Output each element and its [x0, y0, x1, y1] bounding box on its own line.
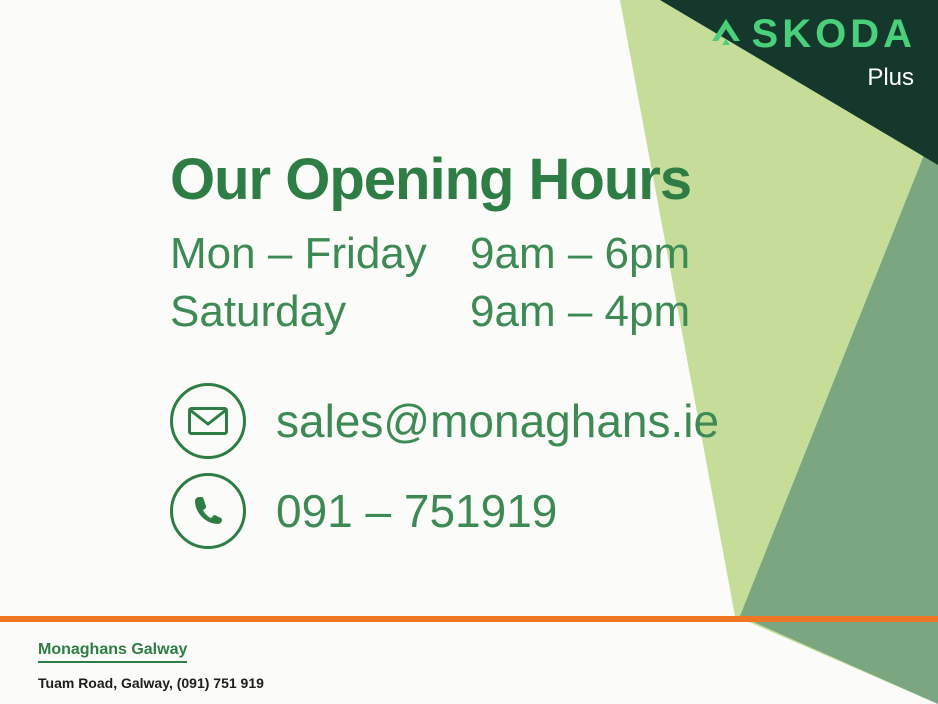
- hours-day-saturday: Saturday: [170, 287, 470, 337]
- plus-label: Plus: [708, 62, 914, 93]
- contact-block: sales@monaghans.ie 091 – 751919: [170, 383, 719, 549]
- hours-time-saturday: 9am – 4pm: [470, 287, 690, 337]
- content-block: Our Opening Hours Mon – Friday 9am – 6pm…: [170, 150, 719, 563]
- email-address[interactable]: sales@monaghans.ie: [276, 394, 719, 448]
- orange-divider: [0, 616, 938, 622]
- skoda-wordmark-text: SKODA: [752, 12, 916, 56]
- phone-icon: [170, 473, 246, 549]
- hours-row-saturday: Saturday 9am – 4pm: [170, 287, 719, 337]
- page-title: Our Opening Hours: [170, 150, 719, 211]
- dealer-name: Monaghans Galway: [38, 640, 187, 663]
- footer: Monaghans Galway Tuam Road, Galway, (091…: [38, 640, 264, 691]
- opening-hours-poster: SKODA Plus Our Opening Hours Mon – Frida…: [0, 0, 938, 704]
- phone-number[interactable]: 091 – 751919: [276, 484, 557, 538]
- skoda-wordmark: SKODA: [708, 14, 916, 58]
- contact-row-phone[interactable]: 091 – 751919: [170, 473, 719, 549]
- hours-day-weekday: Mon – Friday: [170, 229, 470, 279]
- skoda-plus-logo: SKODA Plus: [708, 14, 916, 93]
- dealer-address: Tuam Road, Galway, (091) 751 919: [38, 675, 264, 691]
- hours-time-weekday: 9am – 6pm: [470, 229, 690, 279]
- contact-row-email[interactable]: sales@monaghans.ie: [170, 383, 719, 459]
- skoda-winged-arrow-icon: [708, 15, 744, 58]
- envelope-icon: [170, 383, 246, 459]
- hours-row-weekday: Mon – Friday 9am – 6pm: [170, 229, 719, 279]
